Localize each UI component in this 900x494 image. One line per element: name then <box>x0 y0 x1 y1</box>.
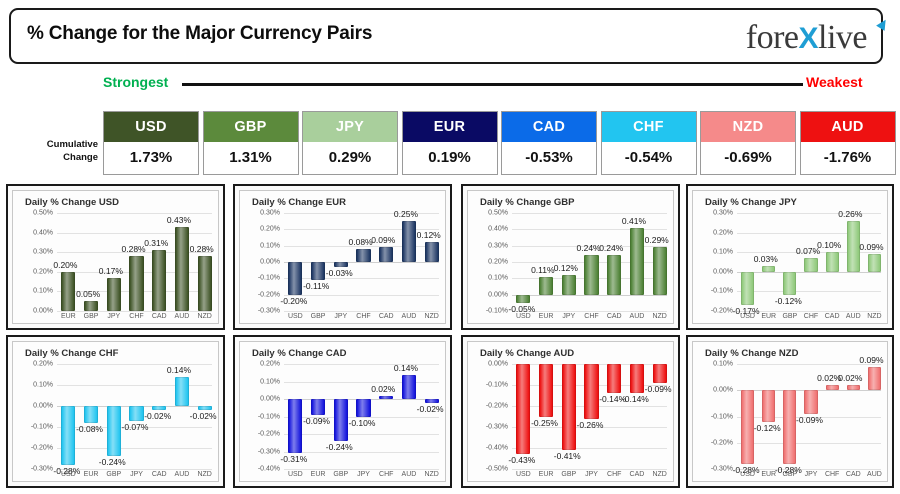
bar-cad-eur[interactable] <box>311 399 325 415</box>
y-axis-tick-label: -0.40% <box>486 445 508 452</box>
y-axis-tick-label: 0.30% <box>260 210 280 217</box>
y-axis-tick-label: 0.20% <box>260 361 280 368</box>
bar-jpy-cad[interactable] <box>826 252 839 272</box>
chart-inner-eur: Daily % Change EUR-0.30%-0.20%-0.10%0.00… <box>239 190 446 324</box>
bar-eur-gbp[interactable] <box>311 262 325 280</box>
x-axis-tick-label: AUD <box>402 313 417 320</box>
bar-value-label: -0.09% <box>645 384 672 394</box>
cumulative-value-nzd: -0.69% <box>701 142 795 174</box>
y-axis-tick-label: 0.00% <box>713 268 733 275</box>
y-axis-tick-label: -0.20% <box>486 403 508 410</box>
bar-cad-aud[interactable] <box>402 375 416 400</box>
plot-area-chf: -0.30%-0.20%-0.10%0.00%0.10%0.20%-0.28%U… <box>57 364 212 465</box>
y-axis-tick-label: -0.10% <box>486 308 508 315</box>
y-axis-tick-label: 0.50% <box>33 210 53 217</box>
y-axis-tick-label: -0.20% <box>31 445 53 452</box>
y-axis-tick-label: -0.20% <box>711 308 733 315</box>
currency-rank-box-aud[interactable]: AUD-1.76% <box>800 111 896 175</box>
strength-scale-line <box>182 83 803 86</box>
x-axis-tick-label: CHF <box>379 471 393 478</box>
x-axis-tick-label: NZD <box>424 471 438 478</box>
bar-aud-nzd[interactable] <box>653 364 667 383</box>
x-axis-tick-label: JPY <box>334 313 347 320</box>
bar-cad-chf[interactable] <box>379 396 393 400</box>
weakest-label: Weakest <box>806 74 863 90</box>
bar-chf-cad[interactable] <box>152 406 166 410</box>
plot-area-eur: -0.30%-0.20%-0.10%0.00%0.10%0.20%0.30%-0… <box>284 213 439 307</box>
x-axis-tick-label: AUD <box>175 471 190 478</box>
x-axis-tick-label: CAD <box>152 471 167 478</box>
bar-nzd-eur[interactable] <box>762 390 775 422</box>
y-axis-tick-label: 0.10% <box>33 382 53 389</box>
bar-usd-aud[interactable] <box>175 227 189 311</box>
x-axis-tick-label: EUR <box>539 313 554 320</box>
x-axis-tick-label: NZD <box>197 471 211 478</box>
bar-jpy-gbp[interactable] <box>783 272 796 296</box>
bar-value-label: -0.24% <box>326 442 353 452</box>
x-axis-tick-label: AUD <box>846 313 861 320</box>
bar-eur-cad[interactable] <box>379 247 393 262</box>
x-axis-tick-label: USD <box>516 313 531 320</box>
chart-panel-usd[interactable]: Daily % Change USD0.00%0.10%0.20%0.30%0.… <box>6 184 225 330</box>
gridline <box>737 291 881 292</box>
x-axis-tick-label: USD <box>288 313 303 320</box>
bar-eur-aud[interactable] <box>402 221 416 262</box>
gridline <box>284 434 439 435</box>
bar-value-label: 0.09% <box>371 235 395 245</box>
bar-cad-nzd[interactable] <box>425 399 439 403</box>
x-axis-tick-label: GBP <box>561 471 576 478</box>
y-axis-tick-label: -0.30% <box>486 424 508 431</box>
bar-value-label: -0.26% <box>577 420 604 430</box>
cumulative-value-jpy: 0.29% <box>303 142 397 174</box>
bar-gbp-usd[interactable] <box>516 295 530 303</box>
y-axis-tick-label: 0.40% <box>33 229 53 236</box>
x-axis-tick-label: USD <box>61 471 76 478</box>
bar-value-label: 0.12% <box>417 230 441 240</box>
x-axis-tick-label: AUD <box>867 471 882 478</box>
bar-value-label: 0.43% <box>167 215 191 225</box>
cumulative-change-label: Cumulative Change <box>14 138 98 164</box>
bar-value-label: 0.08% <box>349 237 373 247</box>
y-axis-tick-label: 0.20% <box>260 226 280 233</box>
y-axis-tick-label: 0.10% <box>260 242 280 249</box>
x-axis-tick-label: CAD <box>607 313 622 320</box>
x-axis-tick-label: USD <box>740 313 755 320</box>
x-axis-tick-label: CHF <box>356 313 370 320</box>
cumulative-value-aud: -1.76% <box>801 142 895 174</box>
y-axis-tick-label: -0.40% <box>258 466 280 473</box>
bar-gbp-jpy[interactable] <box>562 275 576 295</box>
bar-value-label: 0.26% <box>838 209 862 219</box>
y-axis-tick-label: -0.10% <box>711 288 733 295</box>
y-axis-tick-label: 0.40% <box>488 226 508 233</box>
bar-value-label: 0.11% <box>531 265 554 275</box>
bar-nzd-jpy[interactable] <box>804 390 817 414</box>
y-axis-tick-label: 0.00% <box>713 387 733 394</box>
y-axis-tick-label: 0.10% <box>713 249 733 256</box>
plot-area-aud: -0.50%-0.40%-0.30%-0.20%-0.10%0.00%-0.43… <box>512 364 667 465</box>
x-axis-tick-label: CHF <box>607 471 621 478</box>
cumulative-change-label-line2: Change <box>14 151 98 164</box>
chart-panel-cad[interactable]: Daily % Change CAD-0.40%-0.30%-0.20%-0.1… <box>233 335 452 488</box>
bar-gbp-nzd[interactable] <box>653 247 667 294</box>
x-axis-tick-label: CAD <box>379 313 394 320</box>
bar-aud-cad[interactable] <box>630 364 644 393</box>
bar-value-label: 0.28% <box>190 244 214 254</box>
bar-gbp-cad[interactable] <box>607 255 621 294</box>
bar-aud-jpy[interactable] <box>584 364 598 419</box>
bar-value-label: 0.41% <box>622 216 646 226</box>
y-axis-tick-label: 0.30% <box>488 242 508 249</box>
currency-code-gbp: GBP <box>204 112 298 142</box>
bar-usd-jpy[interactable] <box>107 278 121 311</box>
currency-code-usd: USD <box>104 112 198 142</box>
x-axis-tick-label: USD <box>288 471 303 478</box>
bar-value-label: -0.24% <box>99 457 126 467</box>
bar-gbp-eur[interactable] <box>539 277 553 295</box>
title-bar: % Change for the Major Currency Pairs fo… <box>9 8 883 64</box>
bar-usd-nzd[interactable] <box>198 256 212 311</box>
chart-panel-nzd[interactable]: Daily % Change NZD-0.30%-0.20%-0.10%0.00… <box>686 335 894 488</box>
x-axis-tick-label: JPY <box>357 471 370 478</box>
bar-value-label: 0.10% <box>817 240 841 250</box>
y-axis-tick-label: 0.00% <box>33 403 53 410</box>
bar-aud-usd[interactable] <box>516 364 530 454</box>
y-axis-tick-label: 0.00% <box>260 396 280 403</box>
cumulative-value-gbp: 1.31% <box>204 142 298 174</box>
bar-value-label: 0.14% <box>394 363 418 373</box>
chart-title-aud: Daily % Change AUD <box>480 348 574 359</box>
x-axis-tick-label: EUR <box>61 313 76 320</box>
bar-value-label: -0.02% <box>190 411 217 421</box>
x-axis-tick-label: CHF <box>825 471 839 478</box>
chart-inner-gbp: Daily % Change GBP-0.10%0.00%0.10%0.20%0… <box>467 190 674 324</box>
y-axis-tick-label: -0.50% <box>486 466 508 473</box>
x-axis-tick-label: AUD <box>630 313 645 320</box>
bar-value-label: -0.09% <box>303 416 330 426</box>
bar-value-label: -0.03% <box>326 268 353 278</box>
bar-usd-gbp[interactable] <box>84 301 98 311</box>
bar-value-label: 0.17% <box>99 266 123 276</box>
x-axis-tick-label: EUR <box>311 471 326 478</box>
bar-chf-nzd[interactable] <box>198 406 212 410</box>
bar-value-label: -0.02% <box>417 404 444 414</box>
bar-value-label: 0.02% <box>838 373 862 383</box>
chart-title-jpy: Daily % Change JPY <box>705 197 797 208</box>
gridline <box>737 443 881 444</box>
x-axis-tick-label: JPY <box>585 471 598 478</box>
chart-inner-cad: Daily % Change CAD-0.40%-0.30%-0.20%-0.1… <box>239 341 446 482</box>
bar-jpy-eur[interactable] <box>762 266 775 272</box>
bar-value-label: 0.14% <box>167 365 191 375</box>
bar-nzd-usd[interactable] <box>741 390 754 464</box>
bar-aud-chf[interactable] <box>607 364 621 393</box>
gridline <box>284 278 439 279</box>
chart-panel-jpy[interactable]: Daily % Change JPY-0.20%-0.10%0.00%0.10%… <box>686 184 894 330</box>
bar-eur-nzd[interactable] <box>425 242 439 262</box>
y-axis-tick-label: 0.50% <box>488 210 508 217</box>
bar-value-label: -0.10% <box>349 418 376 428</box>
currency-rank-box-chf[interactable]: CHF-0.54% <box>601 111 697 175</box>
x-axis-tick-label: NZD <box>197 313 211 320</box>
currency-code-aud: AUD <box>801 112 895 142</box>
y-axis-tick-label: -0.30% <box>711 466 733 473</box>
cumulative-value-chf: -0.54% <box>602 142 696 174</box>
x-axis-tick-label: EUR <box>84 471 99 478</box>
x-axis-tick-label: JPY <box>107 313 120 320</box>
plot-area-nzd: -0.30%-0.20%-0.10%0.00%0.10%-0.28%USD-0.… <box>737 364 881 465</box>
y-axis-tick-label: -0.30% <box>258 448 280 455</box>
bar-value-label: -0.08% <box>76 424 103 434</box>
bar-nzd-chf[interactable] <box>826 385 839 390</box>
bar-usd-cad[interactable] <box>152 250 166 311</box>
bar-value-label: -0.12% <box>754 423 781 433</box>
currency-code-nzd: NZD <box>701 112 795 142</box>
bar-chf-gbp[interactable] <box>107 406 121 456</box>
chart-inner-jpy: Daily % Change JPY-0.20%-0.10%0.00%0.10%… <box>692 190 888 324</box>
y-axis-tick-label: 0.20% <box>33 361 53 368</box>
y-axis-tick-label: 0.30% <box>33 249 53 256</box>
x-axis-tick-label: EUR <box>761 313 776 320</box>
forexlive-logo: foreXlive <box>746 16 867 61</box>
chart-title-usd: Daily % Change USD <box>25 197 119 208</box>
chart-panel-eur[interactable]: Daily % Change EUR-0.30%-0.20%-0.10%0.00… <box>233 184 452 330</box>
x-axis-tick-label: GBP <box>106 471 121 478</box>
gridline <box>512 213 667 214</box>
zero-baseline <box>284 262 439 263</box>
x-axis-tick-label: CAD <box>152 313 167 320</box>
bar-aud-gbp[interactable] <box>562 364 576 450</box>
y-axis-tick-label: -0.10% <box>258 275 280 282</box>
chart-title-chf: Daily % Change CHF <box>25 348 118 359</box>
logo-text-right: live <box>818 19 867 56</box>
bar-jpy-nzd[interactable] <box>868 254 881 272</box>
y-axis-tick-label: -0.10% <box>486 382 508 389</box>
bar-value-label: 0.31% <box>144 238 168 248</box>
chart-inner-nzd: Daily % Change NZD-0.30%-0.20%-0.10%0.00… <box>692 341 888 482</box>
bar-eur-jpy[interactable] <box>334 262 348 267</box>
bar-cad-usd[interactable] <box>288 399 302 453</box>
y-axis-tick-label: 0.10% <box>260 378 280 385</box>
y-axis-tick-label: 0.00% <box>488 291 508 298</box>
zero-baseline <box>512 295 667 296</box>
y-axis-tick-label: 0.00% <box>33 308 53 315</box>
y-axis-tick-label: 0.10% <box>713 361 733 368</box>
x-axis-tick-label: CAD <box>825 313 840 320</box>
plot-area-cad: -0.40%-0.30%-0.20%-0.10%0.00%0.10%0.20%-… <box>284 364 439 465</box>
bar-usd-chf[interactable] <box>129 256 143 311</box>
bar-cad-gbp[interactable] <box>334 399 348 441</box>
bar-aud-eur[interactable] <box>539 364 553 417</box>
gridline <box>512 448 667 449</box>
plot-area-jpy: -0.20%-0.10%0.00%0.10%0.20%0.30%-0.17%US… <box>737 213 881 307</box>
bar-gbp-chf[interactable] <box>584 255 598 294</box>
gridline <box>284 311 439 312</box>
bar-value-label: 0.20% <box>53 260 77 270</box>
bar-value-label: 0.28% <box>122 244 146 254</box>
y-axis-tick-label: -0.20% <box>711 439 733 446</box>
x-axis-tick-label: CHF <box>804 313 818 320</box>
currency-rank-box-gbp[interactable]: GBP1.31% <box>203 111 299 175</box>
chart-panel-gbp[interactable]: Daily % Change GBP-0.10%0.00%0.10%0.20%0… <box>461 184 680 330</box>
y-axis-tick-label: 0.20% <box>713 229 733 236</box>
bar-value-label: 0.09% <box>859 242 883 252</box>
x-axis-tick-label: NZD <box>867 313 881 320</box>
bar-value-label: -0.41% <box>554 451 581 461</box>
chart-panel-aud[interactable]: Daily % Change AUD-0.50%-0.40%-0.30%-0.2… <box>461 335 680 488</box>
bar-value-label: -0.25% <box>531 418 558 428</box>
bar-value-label: 0.02% <box>371 384 395 394</box>
plot-area-gbp: -0.10%0.00%0.10%0.20%0.30%0.40%0.50%-0.0… <box>512 213 667 307</box>
bar-nzd-gbp[interactable] <box>783 390 796 464</box>
bar-value-label: 0.12% <box>554 263 578 273</box>
bar-value-label: 0.03% <box>754 254 778 264</box>
bar-jpy-usd[interactable] <box>741 272 754 305</box>
gridline <box>284 469 439 470</box>
gridline <box>57 448 212 449</box>
cumulative-value-cad: -0.53% <box>502 142 596 174</box>
bar-value-label: -0.31% <box>280 454 307 464</box>
x-axis-tick-label: USD <box>516 471 531 478</box>
chart-title-nzd: Daily % Change NZD <box>705 348 798 359</box>
x-axis-tick-label: GBP <box>84 313 99 320</box>
bar-chf-eur[interactable] <box>84 406 98 423</box>
gridline <box>57 311 212 312</box>
y-axis-tick-label: -0.10% <box>711 413 733 420</box>
chart-title-cad: Daily % Change CAD <box>252 348 347 359</box>
x-axis-tick-label: JPY <box>562 313 575 320</box>
currency-code-cad: CAD <box>502 112 596 142</box>
logo-x-icon: X <box>799 22 819 55</box>
bar-value-label: -0.43% <box>508 455 535 465</box>
gridline <box>284 452 439 453</box>
bar-chf-jpy[interactable] <box>129 406 143 421</box>
bar-value-label: -0.11% <box>303 281 329 291</box>
x-axis-tick-label: AUD <box>402 471 417 478</box>
y-axis-tick-label: -0.10% <box>258 413 280 420</box>
chart-inner-usd: Daily % Change USD0.00%0.10%0.20%0.30%0.… <box>12 190 219 324</box>
bar-chf-aud[interactable] <box>175 377 189 406</box>
y-axis-tick-label: 0.30% <box>713 210 733 217</box>
bar-value-label: -0.07% <box>122 422 149 432</box>
y-axis-tick-label: 0.00% <box>260 259 280 266</box>
x-axis-tick-label: GBP <box>782 313 797 320</box>
bar-jpy-aud[interactable] <box>847 221 860 272</box>
x-axis-tick-label: JPY <box>130 471 143 478</box>
bar-value-label: -0.14% <box>622 394 649 404</box>
y-axis-tick-label: -0.30% <box>31 466 53 473</box>
currency-ranking-boxes: USD1.73%GBP1.31%JPY0.29%EUR0.19%CAD-0.53… <box>103 111 893 175</box>
currency-rank-box-eur[interactable]: EUR0.19% <box>402 111 498 175</box>
plot-area-usd: 0.00%0.10%0.20%0.30%0.40%0.50%0.20%EUR0.… <box>57 213 212 307</box>
bar-value-label: 0.09% <box>859 355 883 365</box>
y-axis-tick-label: -0.30% <box>258 308 280 315</box>
bar-jpy-chf[interactable] <box>804 258 817 272</box>
bar-value-label: 0.25% <box>394 209 418 219</box>
x-axis-tick-label: CAD <box>630 471 645 478</box>
bar-usd-eur[interactable] <box>61 272 75 311</box>
bar-value-label: -0.20% <box>280 296 307 306</box>
x-axis-tick-label: NZD <box>652 471 666 478</box>
x-axis-tick-label: EUR <box>539 471 554 478</box>
bar-nzd-aud[interactable] <box>868 367 881 391</box>
currency-rank-box-cad[interactable]: CAD-0.53% <box>501 111 597 175</box>
bar-eur-usd[interactable] <box>288 262 302 295</box>
bar-value-label: 0.24% <box>599 243 623 253</box>
y-axis-tick-label: 0.10% <box>488 275 508 282</box>
x-axis-tick-label: CHF <box>129 313 143 320</box>
bar-value-label: 0.05% <box>76 289 100 299</box>
currency-code-chf: CHF <box>602 112 696 142</box>
bar-value-label: 0.24% <box>577 243 601 253</box>
bar-value-label: -0.12% <box>775 296 802 306</box>
bar-gbp-aud[interactable] <box>630 228 644 295</box>
currency-rank-box-jpy[interactable]: JPY0.29% <box>302 111 398 175</box>
currency-rank-box-nzd[interactable]: NZD-0.69% <box>700 111 796 175</box>
y-axis-tick-label: -0.10% <box>31 424 53 431</box>
bar-value-label: -0.09% <box>796 415 823 425</box>
bar-value-label: 0.29% <box>645 235 669 245</box>
currency-code-eur: EUR <box>403 112 497 142</box>
zero-baseline <box>737 272 881 273</box>
x-axis-tick-label: NZD <box>652 313 666 320</box>
x-axis-tick-label: AUD <box>175 313 190 320</box>
chart-title-eur: Daily % Change EUR <box>252 197 346 208</box>
cumulative-value-eur: 0.19% <box>403 142 497 174</box>
y-axis-tick-label: -0.20% <box>258 431 280 438</box>
chart-inner-chf: Daily % Change CHF-0.30%-0.20%-0.10%0.00… <box>12 341 219 482</box>
logo-arrow-icon <box>876 17 890 31</box>
strength-scale-row: Strongest Weakest <box>0 72 900 98</box>
x-axis-tick-label: CAD <box>846 471 861 478</box>
y-axis-tick-label: 0.00% <box>488 361 508 368</box>
x-axis-tick-label: NZD <box>424 313 438 320</box>
y-axis-tick-label: -0.20% <box>258 291 280 298</box>
chart-panel-chf[interactable]: Daily % Change CHF-0.30%-0.20%-0.10%0.00… <box>6 335 225 488</box>
bar-nzd-cad[interactable] <box>847 385 860 390</box>
cumulative-value-usd: 1.73% <box>104 142 198 174</box>
chart-title-gbp: Daily % Change GBP <box>480 197 575 208</box>
y-axis-tick-label: 0.20% <box>488 259 508 266</box>
x-axis-tick-label: JPY <box>805 471 818 478</box>
x-axis-tick-label: GBP <box>333 471 348 478</box>
x-axis-tick-label: GBP <box>311 313 326 320</box>
y-axis-tick-label: 0.20% <box>33 268 53 275</box>
bar-chf-usd[interactable] <box>61 406 75 465</box>
gridline <box>512 469 667 470</box>
x-axis-tick-label: USD <box>740 471 755 478</box>
bar-cad-jpy[interactable] <box>356 399 370 417</box>
x-axis-tick-label: CHF <box>584 313 598 320</box>
currency-rank-box-usd[interactable]: USD1.73% <box>103 111 199 175</box>
x-axis-tick-label: GBP <box>782 471 797 478</box>
bar-value-label: -0.02% <box>144 411 171 421</box>
strongest-label: Strongest <box>103 74 168 90</box>
bar-eur-chf[interactable] <box>356 249 370 262</box>
logo-text-left: fore <box>746 19 799 56</box>
cumulative-change-label-line1: Cumulative <box>14 138 98 151</box>
chart-inner-aud: Daily % Change AUD-0.50%-0.40%-0.30%-0.2… <box>467 341 674 482</box>
currency-code-jpy: JPY <box>303 112 397 142</box>
y-axis-tick-label: 0.10% <box>33 288 53 295</box>
page-title: % Change for the Major Currency Pairs <box>27 23 372 45</box>
